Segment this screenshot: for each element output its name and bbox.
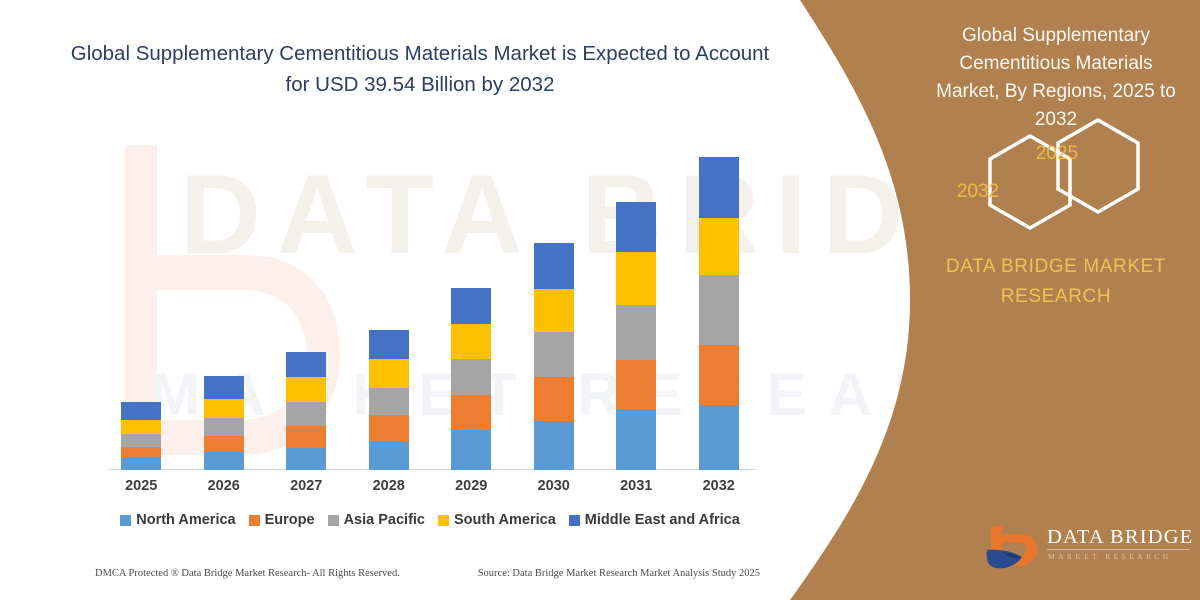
- bar-segment: [699, 157, 739, 218]
- bar-segment: [204, 418, 244, 436]
- legend-item[interactable]: Asia Pacific: [328, 512, 425, 528]
- bar-segment: [451, 359, 491, 395]
- stacked-bar: [204, 376, 244, 470]
- stacked-bar: [121, 402, 161, 470]
- x-axis-label-2027: 2027: [266, 478, 346, 500]
- bar-segment: [451, 288, 491, 324]
- bar-segment: [451, 324, 491, 359]
- bar-segment: [369, 359, 409, 388]
- bar-segment: [451, 395, 491, 430]
- bar-segment: [369, 442, 409, 470]
- legend-item[interactable]: Europe: [249, 512, 315, 528]
- bar-column-2030: [514, 121, 594, 470]
- bar-segment: [699, 218, 739, 275]
- bar-segment: [534, 421, 574, 470]
- bar-segment: [534, 332, 574, 377]
- x-axis-label-2026: 2026: [184, 478, 264, 500]
- legend-swatch-icon: [438, 515, 449, 526]
- data-bridge-mark-icon: [985, 522, 1041, 572]
- bar-segment: [204, 399, 244, 418]
- footer-bar: DMCA Protected ® Data Bridge Market Rese…: [95, 568, 760, 579]
- legend-swatch-icon: [328, 515, 339, 526]
- stacked-bar: [699, 157, 739, 470]
- bar-column-2025: [101, 121, 181, 470]
- bar-segment: [534, 243, 574, 289]
- stacked-bar: [286, 352, 326, 470]
- bar-segment: [121, 420, 161, 434]
- legend-label: South America: [454, 512, 556, 528]
- legend-item[interactable]: South America: [438, 512, 556, 528]
- x-axis-label-2032: 2032: [679, 478, 759, 500]
- bar-segment: [121, 434, 161, 447]
- x-axis-labels: 20252026202720282029203020312032: [100, 478, 760, 500]
- x-axis-label-2030: 2030: [514, 478, 594, 500]
- bar-column-2026: [184, 121, 264, 470]
- bar-segment: [121, 447, 161, 458]
- legend-swatch-icon: [249, 515, 260, 526]
- chart-plot-area: [100, 120, 760, 470]
- bar-column-2029: [431, 121, 511, 470]
- bar-segment: [286, 448, 326, 470]
- logo-title: DATA BRIDGE: [1047, 526, 1194, 549]
- legend-item[interactable]: Middle East and Africa: [569, 512, 740, 528]
- hexagon-label-2032: 2032: [933, 181, 1023, 203]
- bar-segment: [616, 409, 656, 470]
- bar-column-2032: [679, 121, 759, 470]
- stacked-bar: [534, 243, 574, 470]
- x-axis-label-2029: 2029: [431, 478, 511, 500]
- bar-segment: [286, 426, 326, 448]
- panel-brand-text: DATA BRIDGE MARKET RESEARCH: [930, 252, 1182, 312]
- footer-source: Source: Data Bridge Market Research Mark…: [478, 568, 760, 579]
- x-axis-label-2028: 2028: [349, 478, 429, 500]
- data-bridge-logo: DATA BRIDGE MARKET RESEARCH: [985, 518, 1195, 580]
- hexagon-badges: 2032 2025: [930, 118, 1182, 233]
- right-panel-content: Global Supplementary Cementitious Materi…: [930, 0, 1200, 600]
- stacked-bar-group: [100, 121, 760, 470]
- bar-column-2028: [349, 121, 429, 470]
- bar-segment: [286, 377, 326, 402]
- bar-segment: [534, 289, 574, 332]
- bar-segment: [121, 402, 161, 420]
- stacked-bar: [616, 202, 656, 470]
- legend-label: Asia Pacific: [344, 512, 425, 528]
- bar-column-2031: [596, 121, 676, 470]
- legend-label: North America: [136, 512, 235, 528]
- hexagon-outline-icon: [930, 118, 1182, 233]
- legend-swatch-icon: [569, 515, 580, 526]
- bar-segment: [616, 202, 656, 252]
- chart-legend: North AmericaEuropeAsia PacificSouth Ame…: [100, 512, 760, 528]
- bar-segment: [699, 405, 739, 470]
- bar-segment: [616, 360, 656, 409]
- bar-segment: [369, 388, 409, 415]
- bar-segment: [534, 377, 574, 421]
- infographic-canvas: DATA BRIDGE MARKET RESEARCH Global Suppl…: [0, 0, 1200, 600]
- logo-subtitle: MARKET RESEARCH: [1048, 552, 1172, 561]
- bar-segment: [699, 345, 739, 405]
- stacked-bar: [451, 288, 491, 470]
- legend-label: Europe: [265, 512, 315, 528]
- x-axis-label-2031: 2031: [596, 478, 676, 500]
- chart-title: Global Supplementary Cementitious Materi…: [60, 38, 780, 100]
- bar-segment: [616, 305, 656, 360]
- x-axis-label-2025: 2025: [101, 478, 181, 500]
- bar-segment: [451, 430, 491, 470]
- hexagon-label-2025: 2025: [1012, 143, 1102, 165]
- bar-segment: [369, 330, 409, 359]
- bar-segment: [369, 415, 409, 442]
- bar-segment: [121, 458, 161, 470]
- bar-segment: [204, 376, 244, 399]
- logo-divider: [1047, 549, 1189, 550]
- stacked-bar: [369, 330, 409, 470]
- bar-column-2027: [266, 121, 346, 470]
- legend-label: Middle East and Africa: [585, 512, 740, 528]
- footer-copyright: DMCA Protected ® Data Bridge Market Rese…: [95, 568, 400, 579]
- bar-segment: [699, 275, 739, 345]
- bar-segment: [204, 436, 244, 452]
- bar-segment: [286, 402, 326, 426]
- legend-item[interactable]: North America: [120, 512, 235, 528]
- bar-segment: [286, 352, 326, 377]
- legend-swatch-icon: [120, 515, 131, 526]
- bar-segment: [616, 252, 656, 305]
- bar-segment: [204, 452, 244, 470]
